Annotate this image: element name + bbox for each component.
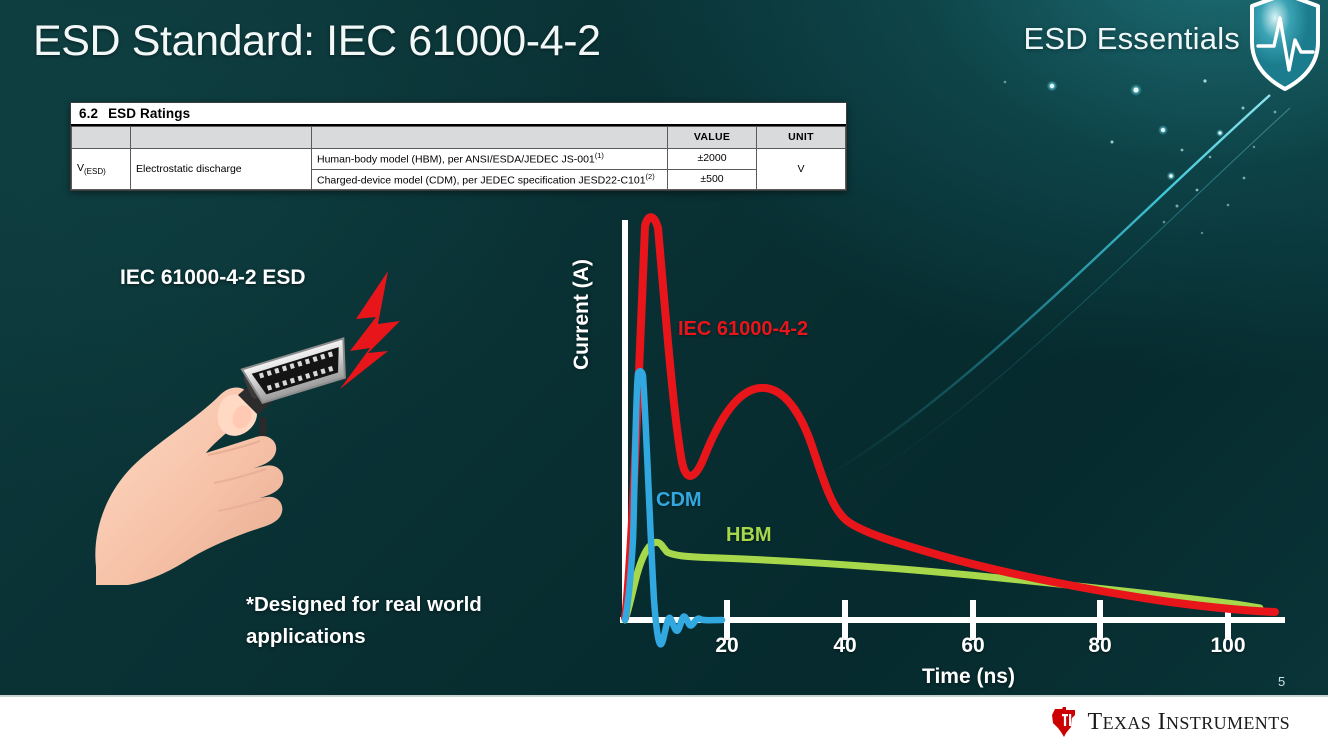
x-tick-label-20: 20 [715,634,738,658]
symbol-base: V [77,162,84,174]
footnote-marker-2: (2) [646,172,655,181]
ti-word-texas-rest: EXAS [1103,713,1152,733]
ti-word-instruments-rest: NSTRUMENTS [1166,713,1290,733]
symbol-subscript: (ESD) [84,167,106,176]
cell-description-hbm: Human-body model (HBM), per ANSI/ESDA/JE… [312,149,668,170]
esd-ratings-table: 6.2ESD Ratings VALUE UNIT V(ESD) Electro… [70,102,847,191]
texas-instruments-logo: TEXAS INSTRUMENTS [1049,706,1291,738]
cell-parameter: Electrostatic discharge [131,149,312,190]
section-number: 6.2 [79,106,98,121]
presentation-slide: ESD Standard: IEC 61000-4-2 ESD Essentia… [0,0,1328,746]
x-tick-label-40: 40 [833,634,856,658]
description-text-hbm: Human-body model (HBM), per ANSI/ESDA/JE… [317,154,595,166]
chart-x-axis-label: Time (ns) [922,665,1015,689]
slide-number: 5 [1278,674,1285,689]
cell-symbol: V(ESD) [72,149,131,190]
x-tick-label-100: 100 [1210,634,1245,658]
hdmi-connector [242,338,354,405]
hand-holding-connector-illustration [88,255,438,585]
ti-word-instruments-cap: I [1158,709,1166,735]
ti-texas-mark-icon [1049,706,1079,738]
series-label-cdm: CDM [656,489,702,512]
cell-value-hbm: ±2000 [668,149,757,170]
shield-pulse-icon [1246,0,1324,94]
x-tick-label-60: 60 [961,634,984,658]
series-label-hbm: HBM [726,524,772,547]
ti-wordmark: TEXAS INSTRUMENTS [1088,709,1291,736]
cell-value-cdm: ±500 [668,169,757,190]
description-text-cdm: Charged-device model (CDM), per JEDEC sp… [317,174,646,186]
hand-shape [95,388,283,586]
header-blank-parameter [131,127,312,149]
lightning-bolt-icon [340,271,400,389]
header-blank-symbol [72,127,131,149]
cell-description-cdm: Charged-device model (CDM), per JEDEC sp… [312,169,668,190]
footnote-marker-1: (1) [595,151,604,160]
section-title: ESD Ratings [108,106,190,121]
table-header-row: VALUE UNIT [72,127,846,149]
design-note: *Designed for real world applications [246,589,546,653]
header-value: VALUE [668,127,757,149]
x-tick-label-80: 80 [1088,634,1111,658]
table-section-heading: 6.2ESD Ratings [71,103,846,126]
series-label-iec: IEC 61000-4-2 [678,318,808,341]
cell-unit: V [757,149,846,190]
header-blank-description [312,127,668,149]
ti-word-texas-cap: T [1088,709,1103,735]
table-row: V(ESD) Electrostatic discharge Human-bod… [72,149,846,170]
brand-series-label: ESD Essentials [1024,21,1240,57]
header-unit: UNIT [757,127,846,149]
esd-waveform-chart [570,200,1310,700]
page-title: ESD Standard: IEC 61000-4-2 [33,17,601,66]
